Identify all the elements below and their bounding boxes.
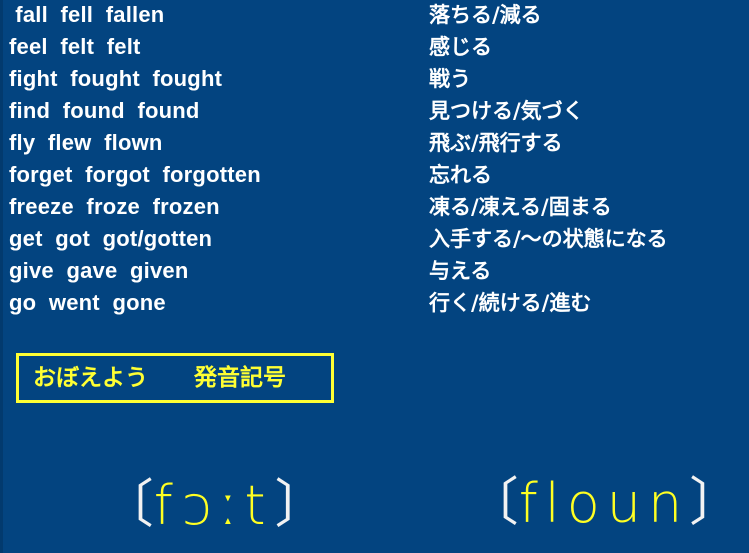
verb-forms: feel felt felt: [9, 32, 141, 62]
verb-forms: forget forgot forgotten: [9, 160, 261, 190]
table-row: get got got/gotten 入手する/～の状態になる: [0, 224, 749, 256]
verb-meaning: 忘れる: [429, 160, 492, 191]
close-bracket: 〕: [689, 473, 741, 533]
table-row: forget forgot forgotten 忘れる: [0, 160, 749, 192]
verb-forms: fight fought fought: [9, 64, 222, 94]
callout-box: おぼえよう 発音記号: [16, 353, 334, 403]
phonetic-transcription-2: 〔floun〕: [398, 413, 741, 553]
verb-meaning: 入手する/～の状態になる: [429, 224, 668, 255]
irregular-verb-table: fall fell fallen 落ちる/減る feel felt felt 感…: [0, 0, 749, 320]
table-row: feel felt felt 感じる: [0, 32, 749, 64]
table-row: fight fought fought 戦う: [0, 64, 749, 96]
table-row: find found found 見つける/気づく: [0, 96, 749, 128]
verb-forms: give gave given: [9, 256, 188, 286]
verb-meaning: 戦う: [429, 64, 471, 95]
verb-meaning: 与える: [429, 256, 491, 287]
verb-forms: fly flew flown: [9, 128, 163, 158]
table-row: give gave given 与える: [0, 256, 749, 288]
verb-meaning: 飛ぶ/飛行する: [429, 128, 563, 159]
phonetic-symbols: fɔːt: [154, 474, 275, 537]
verb-meaning: 落ちる/減る: [429, 0, 542, 31]
open-bracket: 〔: [467, 473, 519, 533]
verb-forms: freeze froze frozen: [9, 192, 220, 222]
verb-forms: get got got/gotten: [9, 224, 212, 254]
phonetic-symbols: floun: [519, 472, 690, 535]
table-row: fall fell fallen 落ちる/減る: [0, 0, 749, 32]
verb-forms: fall fell fallen: [9, 0, 164, 30]
verb-meaning: 行く/続ける/進む: [429, 288, 591, 319]
close-bracket: 〕: [275, 475, 327, 535]
verb-meaning: 見つける/気づく: [429, 96, 584, 127]
phonetic-transcription-1: 〔fɔːt〕: [33, 415, 327, 553]
slide-canvas: fall fell fallen 落ちる/減る feel felt felt 感…: [0, 0, 749, 553]
callout-label: おぼえよう 発音記号: [33, 361, 286, 395]
verb-meaning: 凍る/凍える/固まる: [429, 192, 612, 223]
verb-forms: go went gone: [9, 288, 166, 318]
table-row: freeze froze frozen 凍る/凍える/固まる: [0, 192, 749, 224]
open-bracket: 〔: [102, 475, 154, 535]
verb-meaning: 感じる: [429, 32, 492, 63]
table-row: fly flew flown 飛ぶ/飛行する: [0, 128, 749, 160]
verb-forms: find found found: [9, 96, 200, 126]
table-row: go went gone 行く/続ける/進む: [0, 288, 749, 320]
